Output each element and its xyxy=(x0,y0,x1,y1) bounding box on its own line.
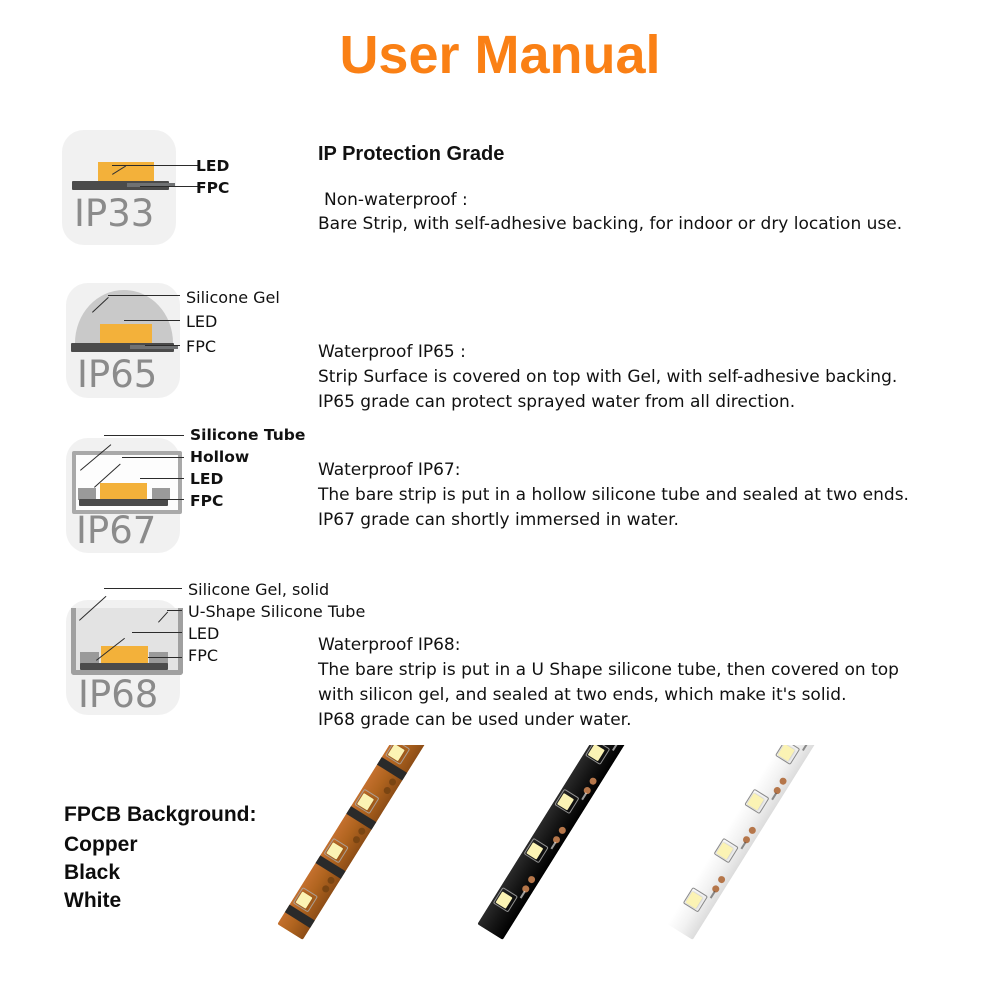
fpcb-option-white: White xyxy=(64,886,121,915)
ip65-fpc-leader xyxy=(145,345,180,346)
ip65-icon-box: IP65 xyxy=(66,283,180,398)
ip68-paragraph-heading: Waterproof IP68: xyxy=(318,633,460,658)
ip65-paragraph-line-2: IP65 grade can protect sprayed water fro… xyxy=(318,390,795,415)
ip65-paragraph-line-1: Strip Surface is covered on top with Gel… xyxy=(318,365,897,390)
ip33-paragraph-line-1: Bare Strip, with self-adhesive backing, … xyxy=(318,212,902,237)
ip68-label-u-shape-tube: U-Shape Silicone Tube xyxy=(188,602,365,621)
ip33-fpc-leader xyxy=(140,186,200,187)
ip68-fpc-bar xyxy=(80,663,168,670)
ip67-label-led: LED xyxy=(190,470,223,488)
ip67-fpc-leader xyxy=(148,499,184,500)
user-manual-page: User Manual IP33 LED FPC IP Protection G… xyxy=(0,0,1000,1000)
ip67-led-chip xyxy=(100,483,147,499)
ip65-label-led: LED xyxy=(186,312,217,331)
section-heading: IP Protection Grade xyxy=(318,143,504,166)
page-title: User Manual xyxy=(0,26,1000,85)
ip33-code-label: IP33 xyxy=(74,192,154,235)
ip67-icon-box: IP67 xyxy=(66,438,180,553)
ip65-led-leader xyxy=(124,320,180,321)
ip67-fpc-bar xyxy=(79,499,168,506)
ip65-label-silicone-gel: Silicone Gel xyxy=(186,288,280,307)
ip68-label-silicone-gel-solid: Silicone Gel, solid xyxy=(188,580,329,599)
ip65-label-fpc: FPC xyxy=(186,337,216,356)
ip68-utube-leader xyxy=(167,610,182,611)
ip67-label-hollow: Hollow xyxy=(190,448,249,466)
ip68-label-fpc: FPC xyxy=(188,646,218,665)
ip67-led-leader xyxy=(140,478,184,479)
ip68-led-leader xyxy=(132,632,182,633)
ip65-led-chip xyxy=(100,324,152,343)
ip67-paragraph-heading: Waterproof IP67: xyxy=(318,458,460,483)
ip67-label-fpc: FPC xyxy=(190,492,223,510)
ip68-paragraph-line-2: with silicon gel, and sealed at two ends… xyxy=(318,683,846,708)
ip67-tube-leader xyxy=(104,435,184,436)
ip68-code-label: IP68 xyxy=(78,673,158,716)
ip33-label-fpc: FPC xyxy=(196,179,229,197)
fpcb-option-black: Black xyxy=(64,858,120,887)
ip68-paragraph-line-3: IP68 grade can be used under water. xyxy=(318,708,632,733)
ip67-code-label: IP67 xyxy=(76,509,156,552)
ip68-paragraph-line-1: The bare strip is put in a U Shape silic… xyxy=(318,658,899,683)
ip65-gel-leader xyxy=(108,295,180,296)
ip67-label-silicone-tube: Silicone Tube xyxy=(190,426,305,444)
ip68-led-chip xyxy=(101,646,148,663)
ip68-label-led: LED xyxy=(188,624,219,643)
fpcb-option-copper: Copper xyxy=(64,830,138,859)
ip33-label-led: LED xyxy=(196,157,229,175)
ip33-icon-box: IP33 xyxy=(62,130,176,245)
ip33-paragraph-heading: Non-waterproof : xyxy=(324,188,468,213)
ip65-code-label: IP65 xyxy=(77,353,157,396)
white-led-strip xyxy=(667,745,867,940)
ip65-paragraph-heading: Waterproof IP65 : xyxy=(318,340,466,365)
ip68-fpc-leader xyxy=(148,657,182,658)
ip67-paragraph-line-2: IP67 grade can shortly immersed in water… xyxy=(318,508,679,533)
led-strip-photo-group xyxy=(250,745,1000,945)
fpcb-background-title: FPCB Background: xyxy=(64,800,257,829)
ip68-gel-leader xyxy=(104,588,182,589)
ip67-hollow-leader xyxy=(122,457,184,458)
ip33-led-leader xyxy=(112,165,200,166)
black-led-strip xyxy=(477,745,677,940)
ip67-paragraph-line-1: The bare strip is put in a hollow silico… xyxy=(318,483,909,508)
copper-led-strip xyxy=(277,745,477,940)
